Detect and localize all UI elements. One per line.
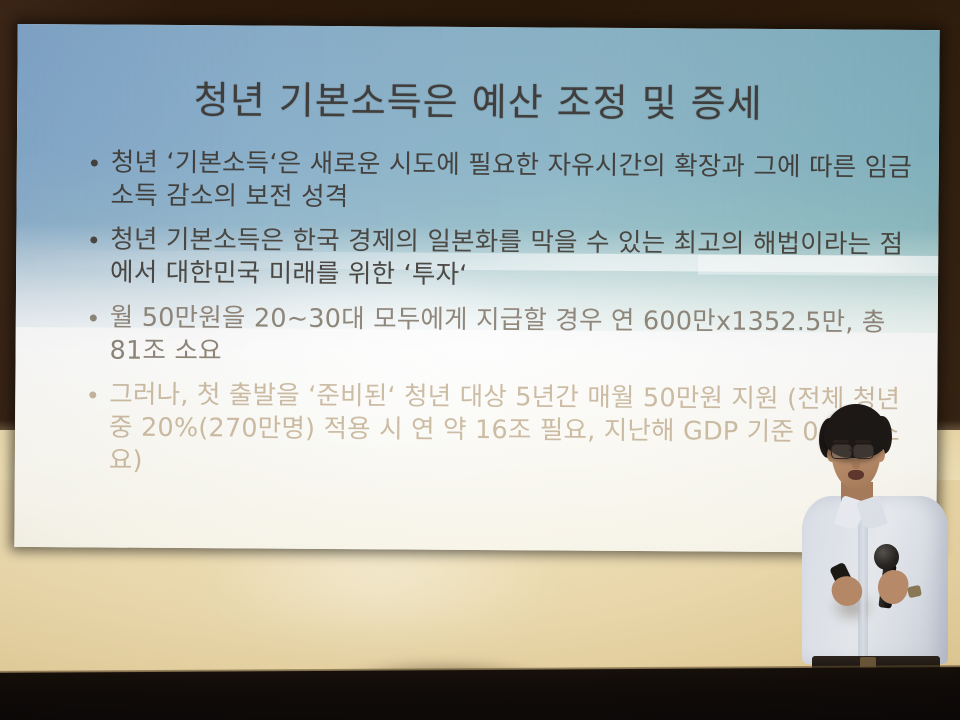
speaker-eyebrow-left <box>833 440 849 443</box>
speaker-nose <box>852 458 860 469</box>
microphone-head-icon <box>874 544 899 570</box>
speaker-eyebrow-right <box>855 440 871 443</box>
bullet-text: 월 50만원을 20~30대 모두에게 지급할 경우 연 600만x1352.5… <box>109 302 885 366</box>
bullet-text: 청년 기본소득은 한국 경제의 일본화를 막을 수 있는 최고의 해법이라는 점… <box>110 225 903 291</box>
bullet-dot-icon <box>91 159 98 166</box>
bullet-text: 청년 ‘기본소득‘은 새로운 시도에 필요한 자유시간의 확장과 그에 따른 임… <box>111 148 913 213</box>
bullet-dot-icon <box>89 391 96 398</box>
bullet-text: 그러나, 첫 출발을 ‘준비된‘ 청년 대상 5년간 매월 50만원 지원 (전… <box>109 379 900 476</box>
speaker-mouth <box>848 470 864 480</box>
bullet-dot-icon <box>90 237 97 244</box>
slide-bullet-item: 청년 ‘기본소득‘은 새로운 시도에 필요한 자유시간의 확장과 그에 따른 임… <box>88 146 924 218</box>
eyeglasses-lens-right-icon <box>853 444 874 459</box>
photo-scene: 청년 기본소득은 예산 조정 및 증세 청년 ‘기본소득‘은 새로운 시도에 필… <box>0 0 960 720</box>
bullet-dot-icon <box>90 314 97 321</box>
eyeglasses-lens-left-icon <box>831 444 852 459</box>
eyeglasses-bridge-icon <box>849 449 854 451</box>
stage-front-dark-band <box>0 667 960 720</box>
slide-title: 청년 기본소득은 예산 조정 및 증세 <box>17 68 939 129</box>
slide-bullet-item: 월 50만원을 20~30대 모두에게 지급할 경우 연 600만x1352.5… <box>87 301 923 373</box>
slide-bullet-item: 청년 기본소득은 한국 경제의 일본화를 막을 수 있는 최고의 해법이라는 점… <box>88 224 924 296</box>
